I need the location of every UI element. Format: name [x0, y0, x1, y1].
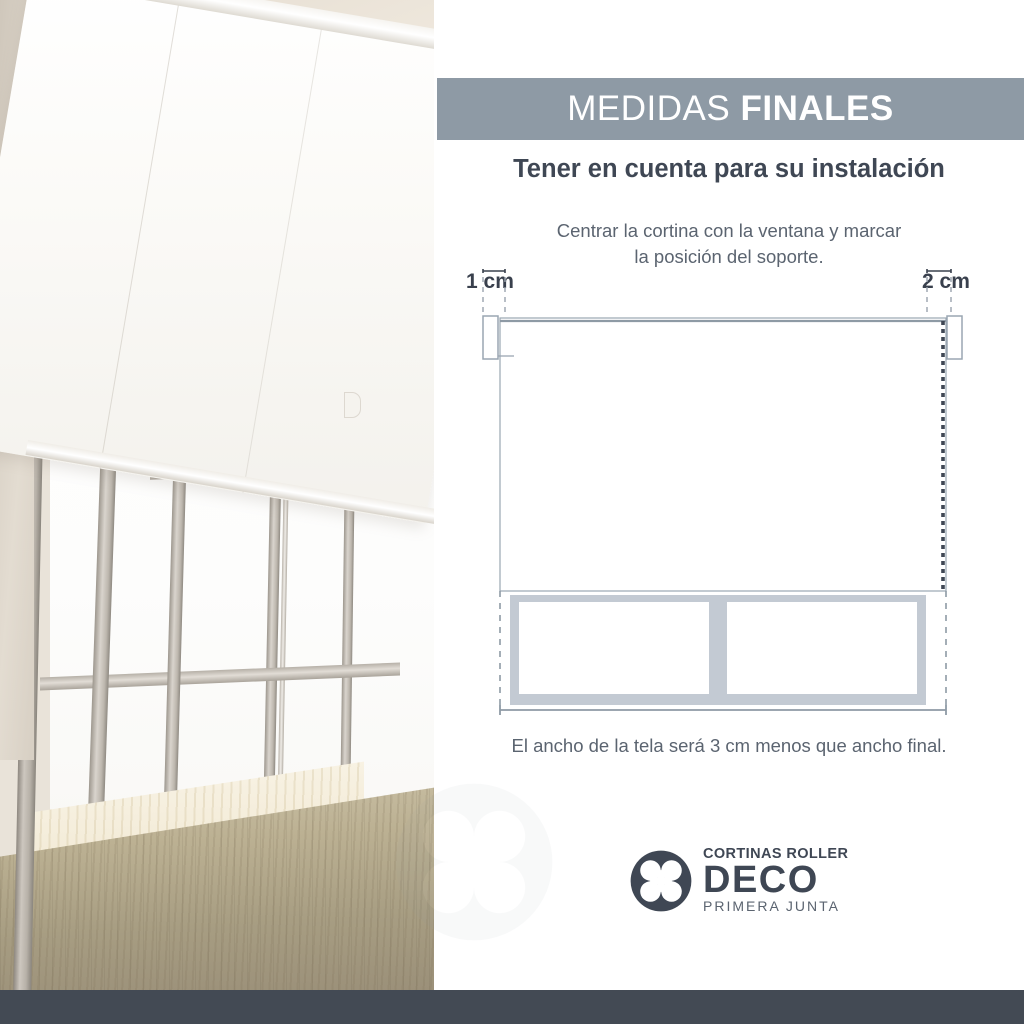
page-title-bold: FINALES [740, 89, 893, 128]
window-frame [510, 595, 926, 705]
gap-bracket-right [927, 269, 951, 273]
support-bracket-right [947, 316, 962, 359]
instruction-line-1: Centrar la cortina con la ventana y marc… [434, 218, 1024, 244]
photo-fabric-seam-b [242, 29, 321, 493]
bottom-accent-bar [0, 990, 1024, 1024]
brand-line-mid: DECO [703, 862, 848, 898]
brand-logo-text: CORTINAS ROLLER DECO PRIMERA JUNTA [703, 847, 848, 915]
product-photo [0, 0, 434, 990]
window-pane-right [727, 602, 917, 694]
installation-diagram [434, 255, 1024, 730]
window-pane-left [519, 602, 709, 694]
info-panel: MEDIDAS FINALES Tener en cuenta para su … [434, 0, 1024, 990]
gap-guide-left [483, 277, 505, 315]
photo-blind-fabric [0, 0, 434, 523]
footnote-text: El ancho de la tela será 3 cm menos que … [434, 735, 1024, 757]
header-banner: MEDIDAS FINALES [437, 78, 1024, 140]
photo-blind-endcap [344, 392, 361, 418]
gap-guide-right [927, 277, 951, 315]
brand-logo: CORTINAS ROLLER DECO PRIMERA JUNTA [630, 845, 860, 917]
page-title-light: MEDIDAS [567, 89, 730, 128]
page-title: MEDIDAS FINALES [567, 89, 893, 129]
flower-circle-icon [630, 850, 692, 912]
subtitle: Tener en cuenta para su instalación [434, 155, 1024, 184]
poster-canvas: MEDIDAS FINALES Tener en cuenta para su … [0, 0, 1024, 1024]
gap-bracket-left [483, 269, 505, 273]
photo-fabric-seam-a [100, 5, 179, 469]
brand-line-bottom: PRIMERA JUNTA [703, 898, 848, 915]
blind-fabric [500, 318, 946, 591]
